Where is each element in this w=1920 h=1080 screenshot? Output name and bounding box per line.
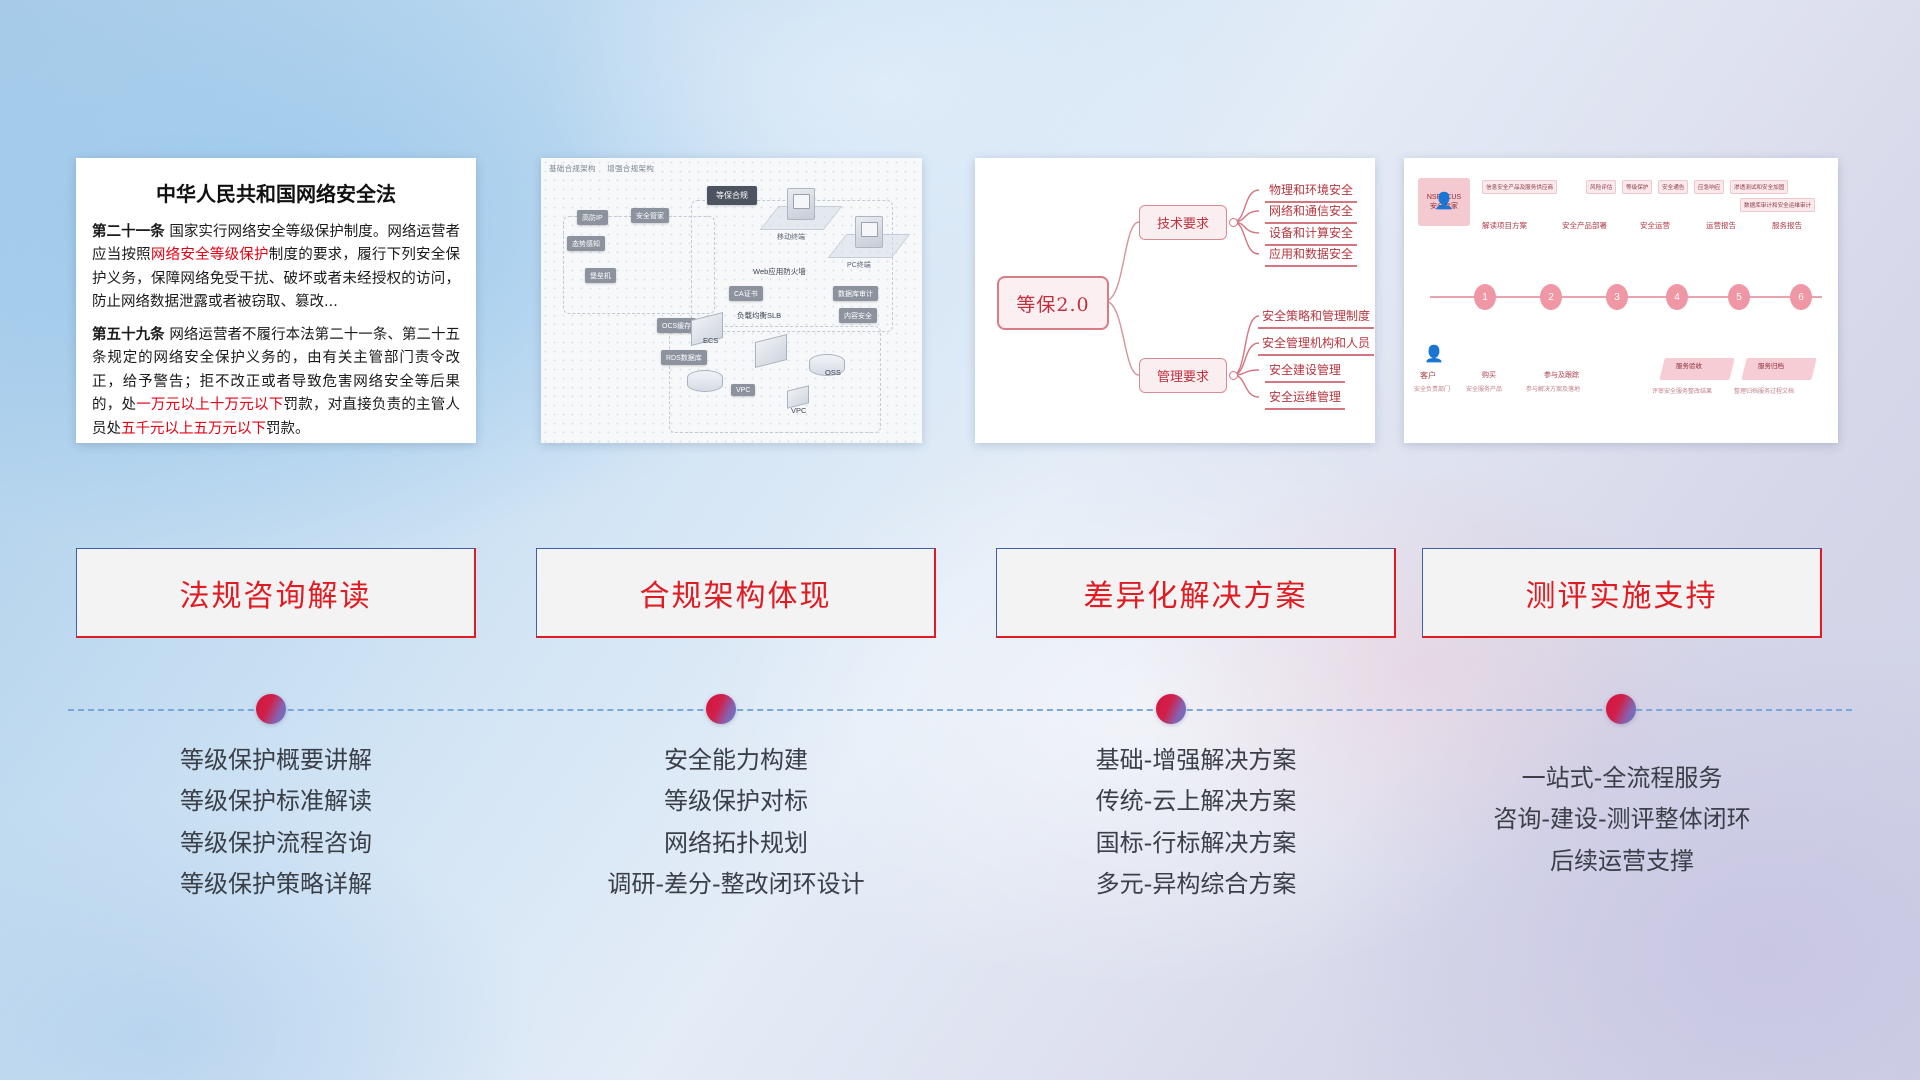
arch-node-situation-awareness: 态势感知 bbox=[567, 236, 605, 251]
article-21-highlight: 网络安全等级保护 bbox=[151, 247, 269, 263]
service-roadmap-card: 👤 NSFOCUS 安全专家 信息安全产品及服务供应商 风险评估 等级保护 安全… bbox=[1404, 158, 1838, 443]
arch-tab-enhanced: 增强合规架构 bbox=[607, 164, 654, 173]
roadmap-row-label-0: 解读项目方案 bbox=[1482, 220, 1527, 231]
heading-label-3: 测评实施支持 bbox=[1526, 571, 1718, 615]
roadmap-step-5: 5 bbox=[1728, 284, 1750, 310]
law-article-59: 第五十九条 网络运营者不履行本法第二十一条、第二十五条规定的网络安全保护义务的，… bbox=[92, 324, 460, 441]
arch-icon-rds bbox=[687, 370, 723, 392]
list-item: 调研-差分-整改闭环设计 bbox=[536, 864, 936, 905]
roadmap-tag-purchase-sub: 安全服务产品 bbox=[1466, 384, 1502, 393]
heading-label-2: 差异化解决方案 bbox=[1084, 571, 1308, 615]
detail-column-3: 基础-增强解决方案 传统-云上解决方案 国标-行标解决方案 多元-异构综合方案 bbox=[996, 740, 1396, 905]
list-item: 等级保护标准解读 bbox=[76, 781, 476, 822]
arch-label-mobile: 移动终端 bbox=[777, 232, 805, 242]
article-59-text-3: 罚款。 bbox=[266, 421, 310, 437]
arch-node-db-audit: RDS数据库 bbox=[661, 350, 707, 365]
article-21-label: 第二十一条 bbox=[92, 224, 165, 240]
heading-box-differentiated-solution[interactable]: 差异化解决方案 bbox=[996, 548, 1396, 638]
roadmap-chip-5: 渗透测试和安全加固 bbox=[1730, 180, 1788, 194]
detail-columns: 等级保护概要讲解 等级保护标准解读 等级保护流程咨询 等级保护策略详解 安全能力… bbox=[0, 740, 1920, 970]
list-item: 等级保护流程咨询 bbox=[76, 823, 476, 864]
timeline bbox=[0, 694, 1920, 726]
timeline-dot-4[interactable] bbox=[1606, 694, 1636, 724]
arch-node-data-audit: VPC bbox=[731, 384, 755, 396]
list-item: 等级保护概要讲解 bbox=[76, 740, 476, 781]
roadmap-tag-participate-sub: 参与解决方案及落地 bbox=[1526, 384, 1580, 393]
heading-label-1: 合规架构体现 bbox=[640, 571, 832, 615]
list-item: 等级保护对标 bbox=[536, 781, 936, 822]
article-59-highlight-2: 五千元以上五万元以下 bbox=[121, 421, 266, 437]
roadmap-step-1: 1 bbox=[1474, 284, 1496, 310]
mindmap-branch-technical: 技术要求 bbox=[1139, 205, 1227, 240]
nsfocus-expert-block: 👤 NSFOCUS 安全专家 bbox=[1418, 178, 1470, 226]
roadmap-chip-0: 信息安全产品及服务供应商 bbox=[1482, 180, 1557, 194]
heading-label-0: 法规咨询解读 bbox=[180, 571, 372, 615]
heading-box-row: 法规咨询解读 合规架构体现 差异化解决方案 测评实施支持 bbox=[0, 548, 1920, 644]
detail-column-1: 等级保护概要讲解 等级保护标准解读 等级保护流程咨询 等级保护策略详解 bbox=[76, 740, 476, 905]
list-item: 多元-异构综合方案 bbox=[996, 864, 1396, 905]
roadmap-chip-2: 等级保护 bbox=[1622, 180, 1652, 194]
roadmap-para-acceptance-sub: 评审安全服务整改结果 bbox=[1652, 386, 1712, 395]
roadmap-step-6: 6 bbox=[1790, 284, 1812, 310]
mindmap-leaf-ops-mgmt: 安全运维管理 bbox=[1265, 387, 1345, 410]
mindmap-connector-dot-management bbox=[1229, 371, 1238, 380]
timeline-dashed-line bbox=[68, 709, 1852, 711]
law-title: 中华人民共和国网络安全法 bbox=[92, 178, 460, 207]
mindmap-connector-dot-technical bbox=[1229, 218, 1238, 227]
list-item: 等级保护策略详解 bbox=[76, 864, 476, 905]
law-document-card: 中华人民共和国网络安全法 第二十一条 国家实行网络安全等级保护制度。网络运营者应… bbox=[76, 158, 476, 443]
roadmap-para-acceptance-text: 服务验收 bbox=[1676, 363, 1702, 371]
list-item: 国标-行标解决方案 bbox=[996, 823, 1396, 864]
mindmap-leaf-policy-system: 安全策略和管理制度 bbox=[1258, 306, 1374, 329]
arch-badge-compliance: 等保合规 bbox=[707, 186, 757, 205]
roadmap-tag-participate: 参与及跟踪 bbox=[1544, 370, 1579, 380]
customer-person-icon: 👤 bbox=[1424, 344, 1444, 364]
arch-tab-basic: 基础合规架构 bbox=[549, 164, 596, 173]
roadmap-step-2: 2 bbox=[1540, 284, 1562, 310]
roadmap-row-label-1: 安全产品部署 bbox=[1562, 220, 1607, 231]
arch-label-ecs: ECS bbox=[703, 336, 718, 345]
list-item: 咨询-建设-测评整体闭环 bbox=[1422, 799, 1822, 840]
heading-box-compliance-architecture[interactable]: 合规架构体现 bbox=[536, 548, 936, 638]
mindmap-leaf-org-personnel: 安全管理机构和人员 bbox=[1258, 333, 1374, 356]
arch-node-ca-cert: CA证书 bbox=[729, 286, 763, 301]
roadmap-chip-1: 风险评估 bbox=[1586, 180, 1616, 194]
roadmap-row-label-4: 服务报告 bbox=[1772, 220, 1802, 231]
mindmap-leaf-construction-mgmt: 安全建设管理 bbox=[1265, 360, 1345, 383]
roadmap-chip-6: 数据库审计和安全运维审计 bbox=[1740, 198, 1815, 212]
arch-label-vpc: VPC bbox=[791, 406, 806, 415]
mindmap-card: 等保2.0 技术要求 物理和环境安全 网络和通信安全 设备和计算安全 应用和数据… bbox=[975, 158, 1375, 443]
list-item: 一站式-全流程服务 bbox=[1422, 758, 1822, 799]
image-card-row: 中华人民共和国网络安全法 第二十一条 国家实行网络安全等级保护制度。网络运营者应… bbox=[0, 158, 1920, 448]
mindmap-branch-management: 管理要求 bbox=[1139, 358, 1227, 393]
roadmap-para-archive-sub: 整理归档服务过程文档 bbox=[1734, 386, 1794, 395]
heading-box-assessment-support[interactable]: 测评实施支持 bbox=[1422, 548, 1822, 638]
arch-label-oss: OSS bbox=[825, 368, 841, 377]
roadmap-tag-purchase: 购买 bbox=[1482, 370, 1496, 380]
arch-node-content-security: 内容安全 bbox=[839, 308, 877, 323]
timeline-dot-1[interactable] bbox=[256, 694, 286, 724]
arch-top-tabs: 基础合规架构 增强合规架构 bbox=[549, 163, 663, 174]
law-article-21: 第二十一条 国家实行网络安全等级保护制度。网络运营者应当按照网络安全等级保护制度… bbox=[92, 221, 460, 315]
article-59-highlight-1: 一万元以上十万元以下 bbox=[136, 397, 283, 413]
list-item: 基础-增强解决方案 bbox=[996, 740, 1396, 781]
arch-icon-pc-terminal bbox=[855, 216, 883, 248]
arch-node-cloud-security-center: 数据库审计 bbox=[833, 286, 878, 301]
roadmap-chip-4: 应急响应 bbox=[1694, 180, 1724, 194]
slide-stage: 中华人民共和国网络安全法 第二十一条 国家实行网络安全等级保护制度。网络运营者应… bbox=[0, 0, 1920, 1080]
roadmap-customer-label: 客户 bbox=[1420, 370, 1436, 381]
arch-label-pc: PC终端 bbox=[847, 260, 871, 270]
list-item: 网络拓扑规划 bbox=[536, 823, 936, 864]
roadmap-step-3: 3 bbox=[1606, 284, 1628, 310]
arch-icon-mobile-terminal bbox=[787, 188, 815, 220]
arch-label-waf: Web应用防火墙 bbox=[753, 266, 806, 277]
arch-label-slb: 负载均衡SLB bbox=[737, 310, 781, 321]
roadmap-para-archive-text: 服务归档 bbox=[1758, 363, 1784, 371]
roadmap-customer-sub: 安全负责部门 bbox=[1414, 384, 1450, 393]
detail-column-4: 一站式-全流程服务 咨询-建设-测评整体闭环 后续运营支撑 bbox=[1422, 740, 1822, 882]
roadmap-row-label-3: 运营报告 bbox=[1706, 220, 1736, 231]
list-item: 安全能力构建 bbox=[536, 740, 936, 781]
mindmap-leaf-app-data: 应用和数据安全 bbox=[1265, 244, 1357, 267]
mindmap-leaf-physical-env: 物理和环境安全 bbox=[1265, 180, 1357, 203]
roadmap-row-label-2: 安全运营 bbox=[1640, 220, 1670, 231]
mindmap-leaf-network-comm: 网络和通信安全 bbox=[1265, 201, 1357, 224]
list-item: 传统-云上解决方案 bbox=[996, 781, 1396, 822]
arch-node-gaofang-ip: 高防IP bbox=[577, 210, 608, 225]
expert-person-icon: 👤 bbox=[1434, 191, 1454, 213]
detail-column-2: 安全能力构建 等级保护对标 网络拓扑规划 调研-差分-整改闭环设计 bbox=[536, 740, 936, 905]
roadmap-chip-3: 安全通告 bbox=[1658, 180, 1688, 194]
timeline-dot-2[interactable] bbox=[706, 694, 736, 724]
mindmap-root-node: 等保2.0 bbox=[997, 276, 1109, 330]
article-59-label: 第五十九条 bbox=[92, 327, 165, 343]
roadmap-step-4: 4 bbox=[1666, 284, 1688, 310]
heading-box-regulation-consulting[interactable]: 法规咨询解读 bbox=[76, 548, 476, 638]
architecture-diagram-card: 基础合规架构 增强合规架构 移动终端 PC终端 等保合规 高防IP 安全管 bbox=[541, 158, 922, 443]
arch-node-bastion-host: 堡垒机 bbox=[585, 268, 616, 283]
mindmap-leaf-device-compute: 设备和计算安全 bbox=[1265, 223, 1357, 246]
timeline-dot-3[interactable] bbox=[1156, 694, 1186, 724]
list-item: 后续运营支撑 bbox=[1422, 841, 1822, 882]
arch-node-security-butler: 安全管家 bbox=[631, 208, 669, 223]
